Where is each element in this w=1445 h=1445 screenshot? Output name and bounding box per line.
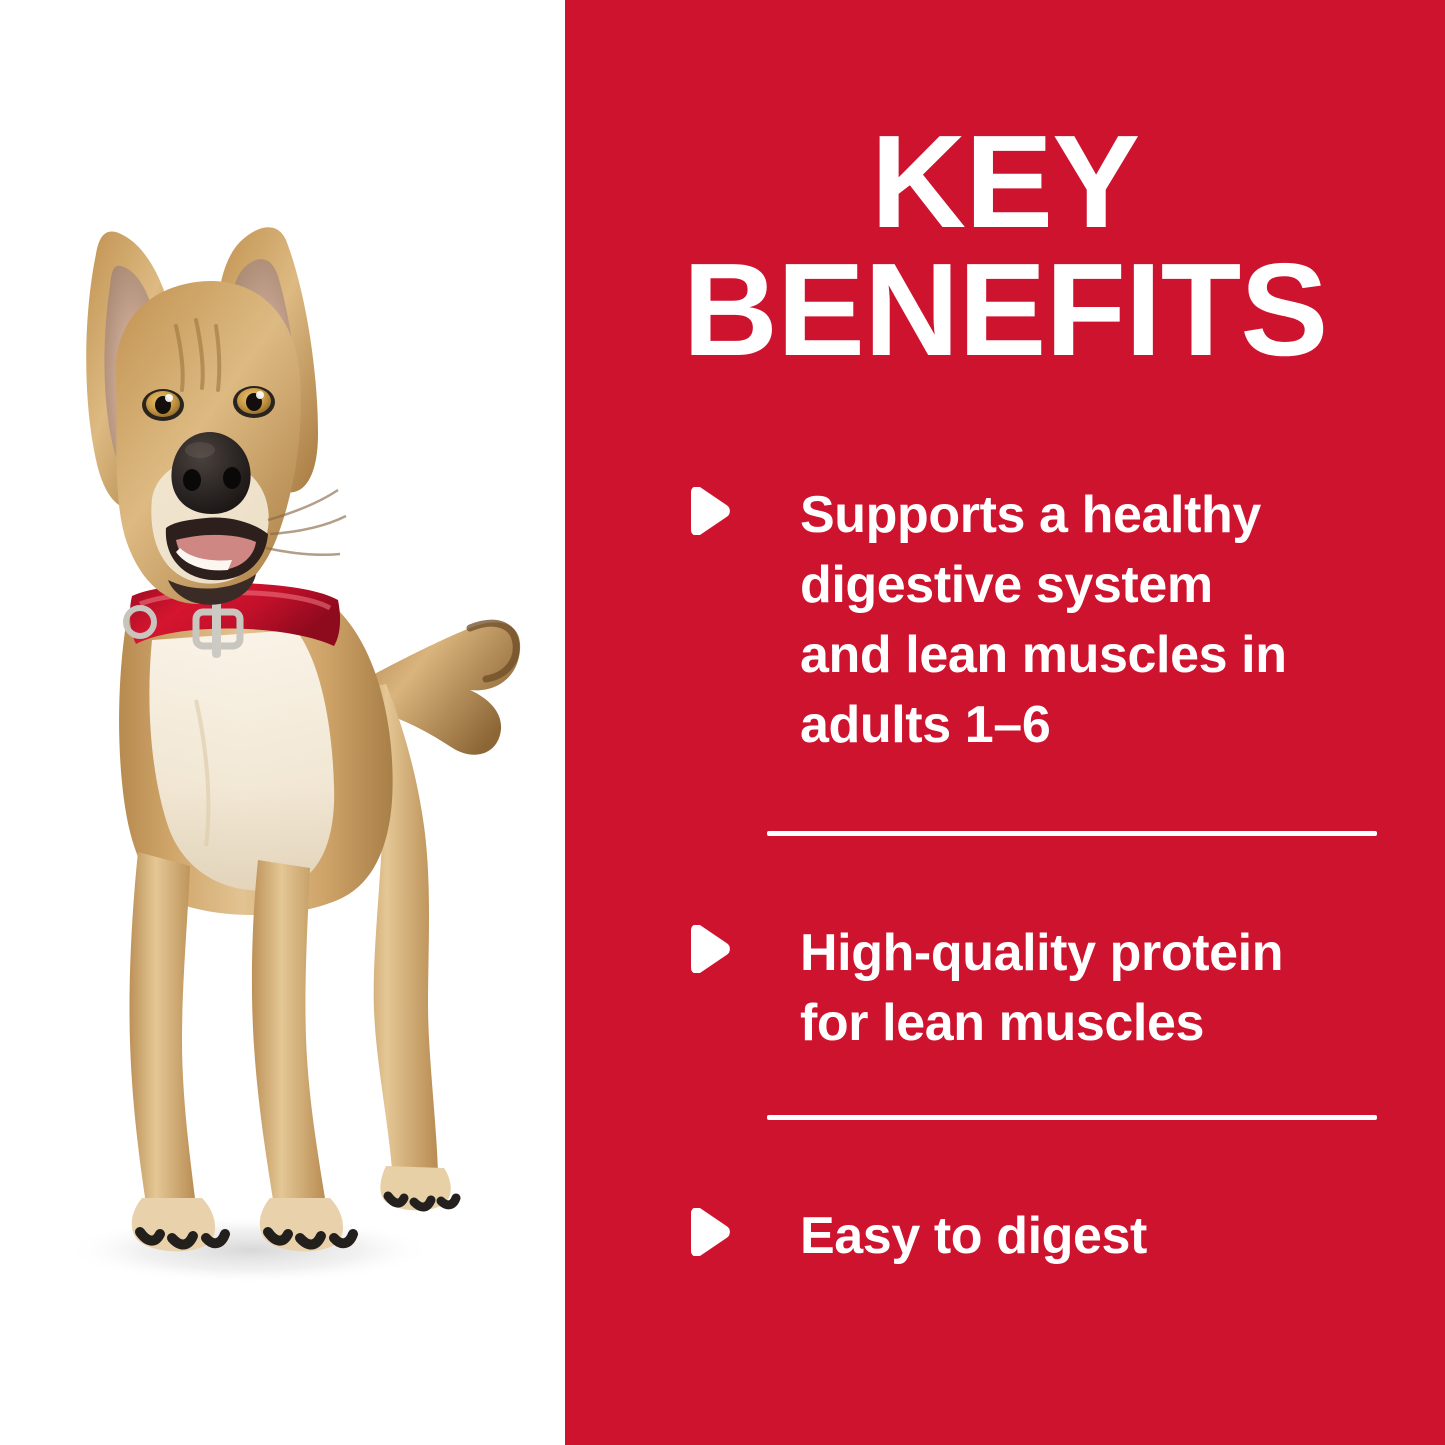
dog-head	[86, 227, 346, 605]
list-item: Easy to digest	[686, 1202, 1386, 1272]
play-triangle-icon	[686, 925, 730, 973]
dog-eye-right	[233, 386, 275, 418]
key-benefits-panel: KEY BENEFITS Supports a healthy digestiv…	[0, 0, 1445, 1445]
play-triangle-icon	[686, 1208, 730, 1256]
benefits-list: Supports a healthy digestive system and …	[565, 0, 1445, 1445]
divider	[767, 1115, 1377, 1120]
list-item-label: Supports a healthy digestive system and …	[800, 481, 1386, 761]
list-item: Supports a healthy digestive system and …	[686, 481, 1386, 761]
play-triangle-icon	[686, 487, 730, 535]
red-content-panel: KEY BENEFITS Supports a healthy digestiv…	[565, 0, 1445, 1445]
list-item-label: High-quality protein for lean muscles	[800, 919, 1386, 1059]
dog-shadow	[65, 1216, 435, 1284]
dog-eye-left	[142, 389, 184, 421]
list-item: High-quality protein for lean muscles	[686, 919, 1386, 1059]
divider	[767, 831, 1377, 836]
photo-panel	[0, 0, 565, 1445]
dog-photo	[0, 0, 565, 1445]
list-item-label: Easy to digest	[800, 1202, 1386, 1272]
